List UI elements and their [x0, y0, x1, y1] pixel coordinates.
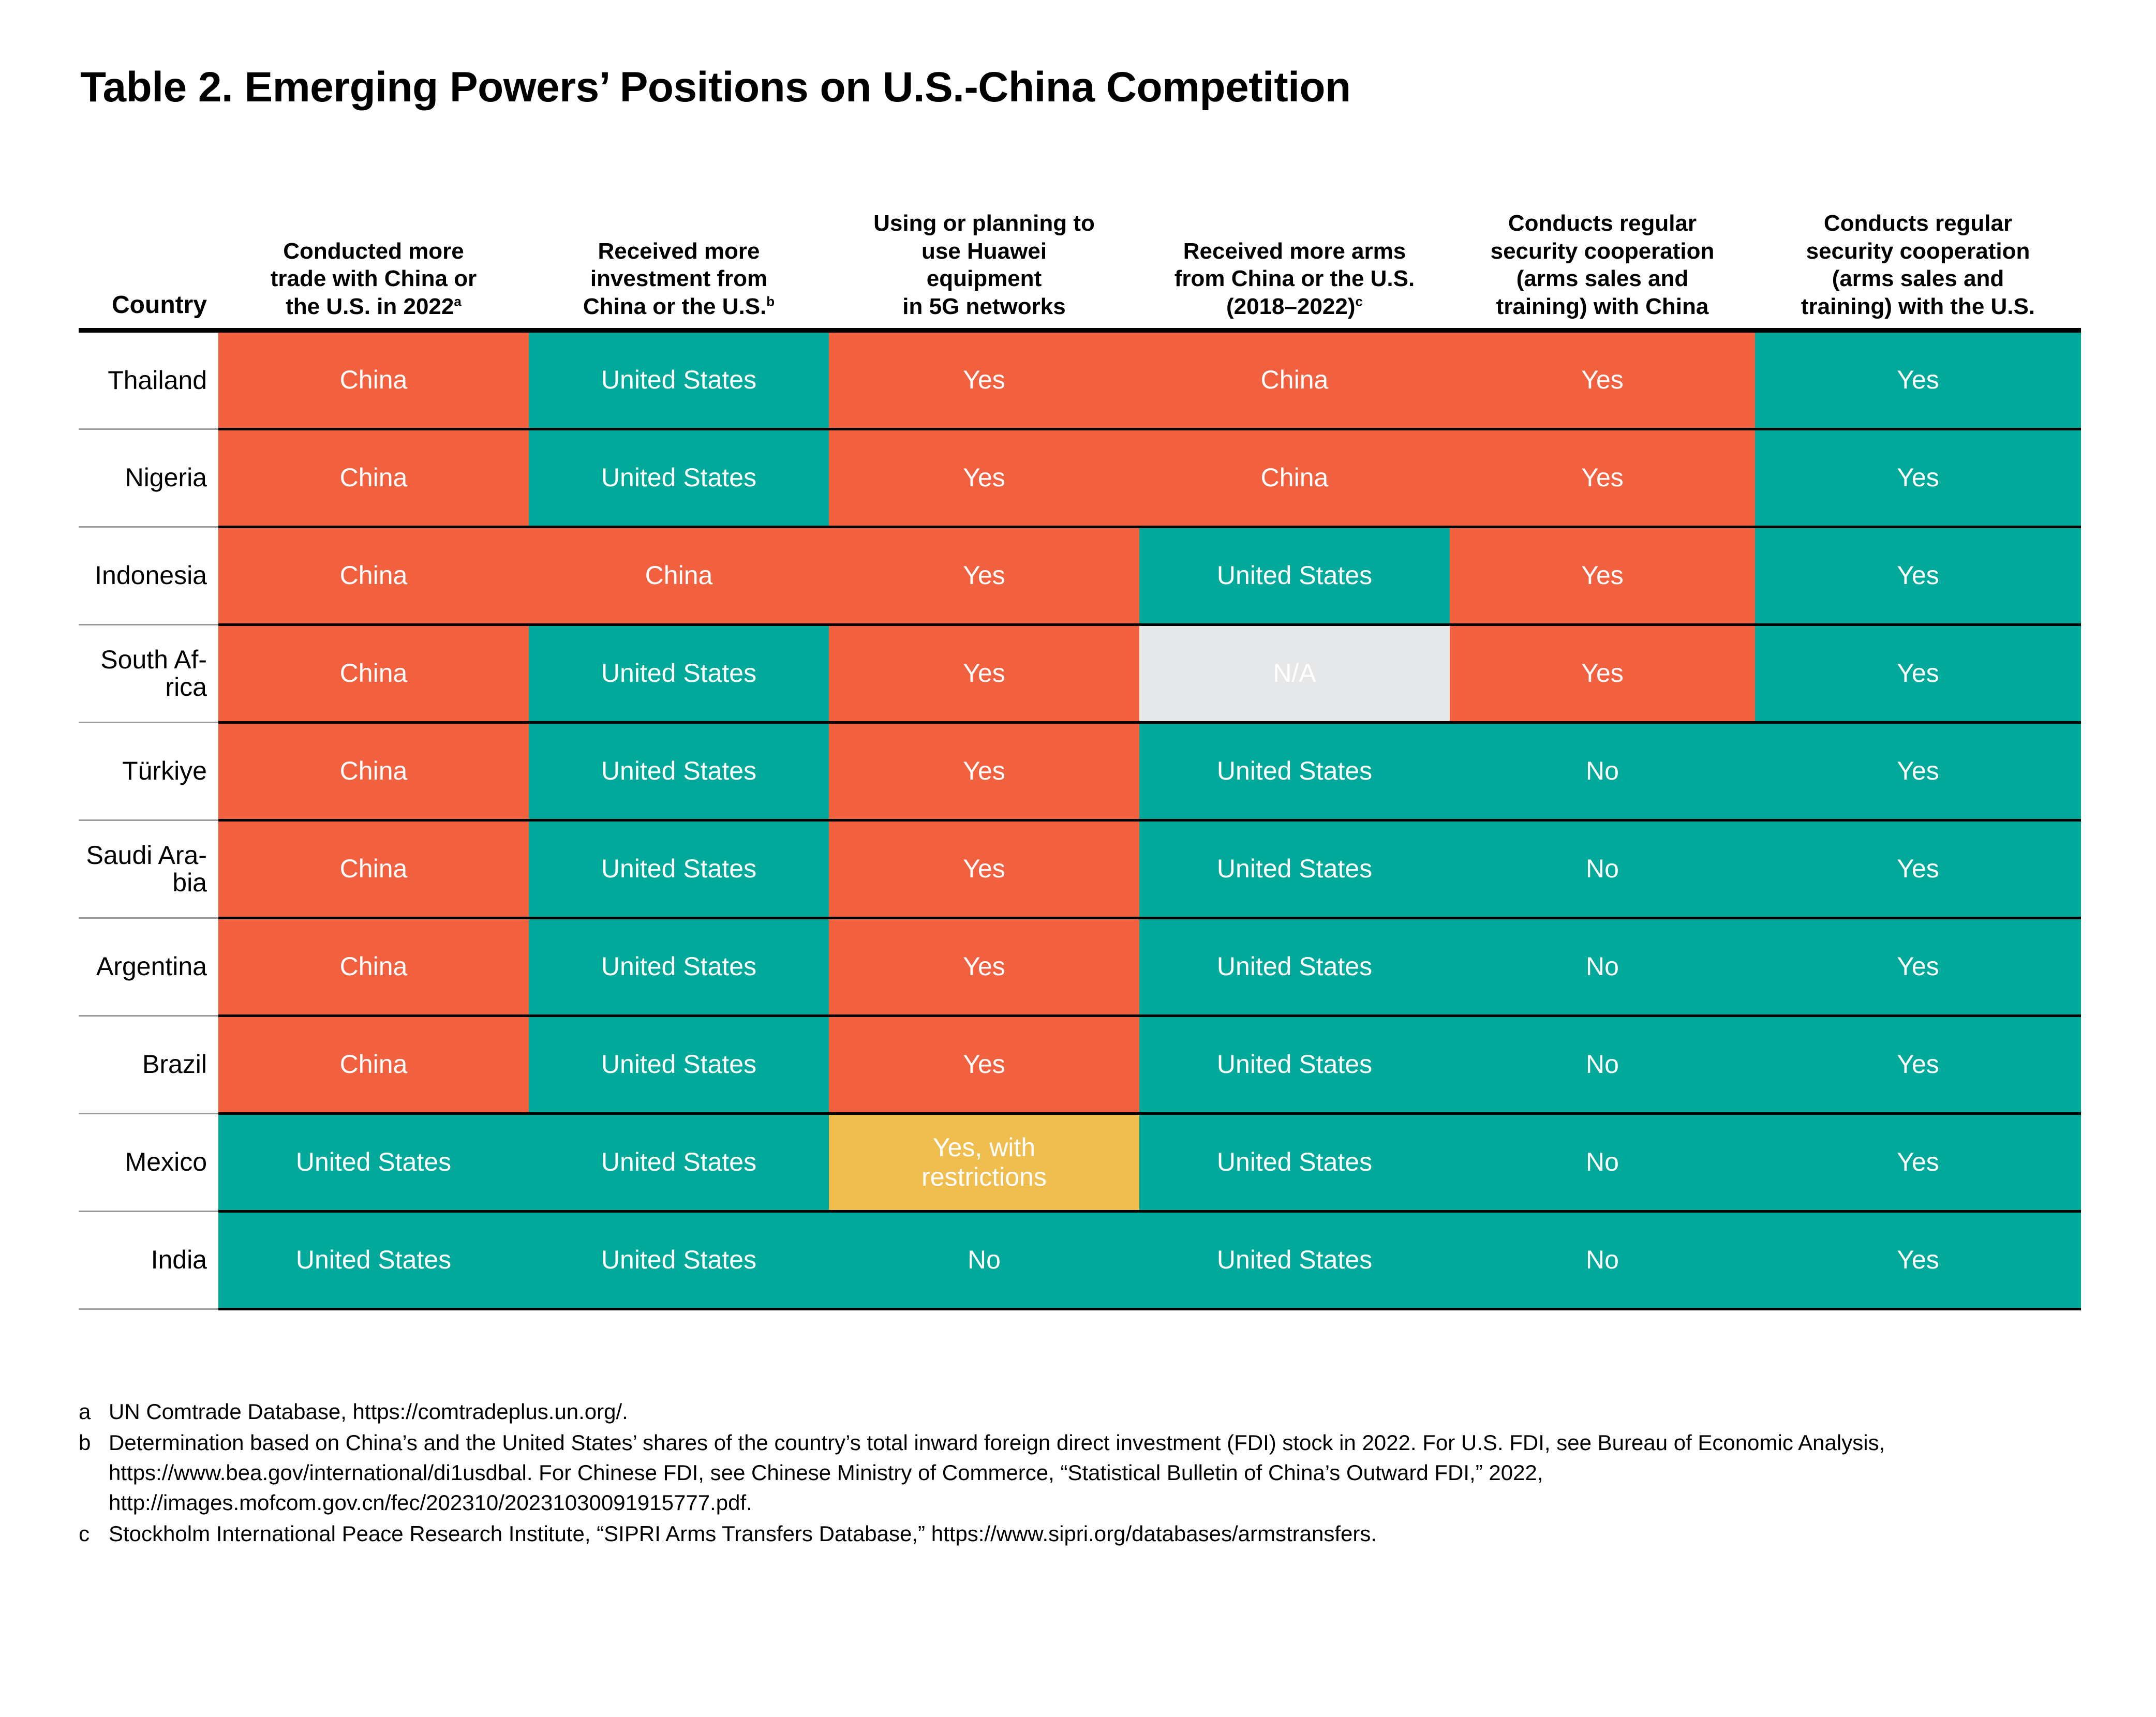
- cell-investment: United States: [529, 1016, 829, 1113]
- cell-arms: N/A: [1139, 624, 1450, 722]
- cell-security-cooperation-us: Yes: [1755, 624, 2081, 722]
- cell-investment: China: [529, 527, 829, 624]
- cell-trade: China: [218, 722, 529, 820]
- header-line: security cooperation: [1806, 238, 2030, 264]
- footnote-ref-b: b: [766, 293, 775, 309]
- cell-security-cooperation-china: Yes: [1450, 527, 1755, 624]
- cell-arms: United States: [1139, 1016, 1450, 1113]
- cell-arms: United States: [1139, 1211, 1450, 1309]
- header-line: equipment: [927, 266, 1042, 291]
- column-header-huawei: Using or planning to use Huawei equipmen…: [829, 210, 1139, 330]
- header-line: Conducts regular: [1824, 211, 2012, 236]
- cell-huawei-5g: Yes: [829, 918, 1139, 1016]
- row-label-country: Mexico: [79, 1113, 218, 1211]
- cell-trade: United States: [218, 1211, 529, 1309]
- cell-huawei-5g: Yes: [829, 1016, 1139, 1113]
- cell-trade: United States: [218, 1113, 529, 1211]
- header-line: (arms sales and: [1832, 266, 2004, 291]
- cell-trade: China: [218, 820, 529, 918]
- column-header-arms: Received more arms from China or the U.S…: [1139, 210, 1450, 330]
- emerging-powers-table: Country Conducted more trade with China …: [79, 210, 2081, 1310]
- cell-security-cooperation-us: Yes: [1755, 1113, 2081, 1211]
- header-line: (2018–2022): [1226, 294, 1356, 319]
- cell-arms: China: [1139, 330, 1450, 429]
- cell-security-cooperation-china: No: [1450, 722, 1755, 820]
- header-line: the U.S. in 2022: [286, 294, 454, 319]
- cell-huawei-5g: Yes, withrestrictions: [829, 1113, 1139, 1211]
- cell-huawei-5g: Yes: [829, 624, 1139, 722]
- header-line: Using or planning to: [873, 211, 1095, 236]
- cell-security-cooperation-us: Yes: [1755, 330, 2081, 429]
- cell-investment: United States: [529, 330, 829, 429]
- footnote-ref-a: a: [454, 293, 461, 309]
- header-row: Country Conducted more trade with China …: [79, 210, 2081, 330]
- header-line: from China or the U.S.: [1174, 266, 1415, 291]
- header-line: (arms sales and: [1516, 266, 1689, 291]
- cell-security-cooperation-us: Yes: [1755, 1211, 2081, 1309]
- footnote-ref-c: c: [1356, 293, 1363, 309]
- cell-investment: United States: [529, 1211, 829, 1309]
- row-label-country: South Af-rica: [79, 624, 218, 722]
- cell-trade: China: [218, 1016, 529, 1113]
- footnote-marker: c: [79, 1519, 109, 1549]
- table-row: ThailandChinaUnited StatesYesChinaYesYes: [79, 330, 2081, 429]
- footnote-text: UN Comtrade Database, https://comtradepl…: [109, 1397, 2024, 1427]
- footnotes: aUN Comtrade Database, https://comtradep…: [79, 1397, 2024, 1550]
- cell-trade: China: [218, 918, 529, 1016]
- header-line: training) with China: [1496, 294, 1709, 319]
- table-row: TürkiyeChinaUnited StatesYesUnited State…: [79, 722, 2081, 820]
- cell-security-cooperation-us: Yes: [1755, 527, 2081, 624]
- cell-investment: United States: [529, 722, 829, 820]
- cell-arms: United States: [1139, 820, 1450, 918]
- column-header-security-cooperation-china: Conducts regular security cooperation (a…: [1450, 210, 1755, 330]
- cell-investment: United States: [529, 429, 829, 527]
- table-row: IndiaUnited StatesUnited StatesNoUnited …: [79, 1211, 2081, 1309]
- row-label-country: Indonesia: [79, 527, 218, 624]
- header-line: investment from: [590, 266, 767, 291]
- row-label-country: Brazil: [79, 1016, 218, 1113]
- table-header: Country Conducted more trade with China …: [79, 210, 2081, 330]
- cell-arms: United States: [1139, 918, 1450, 1016]
- column-header-investment: Received more investment from China or t…: [529, 210, 829, 330]
- header-line: trade with China or: [271, 266, 477, 291]
- table-row: BrazilChinaUnited StatesYesUnited States…: [79, 1016, 2081, 1113]
- cell-security-cooperation-china: Yes: [1450, 429, 1755, 527]
- cell-security-cooperation-china: No: [1450, 1016, 1755, 1113]
- table-page: Table 2. Emerging Powers’ Positions on U…: [0, 0, 2156, 1717]
- cell-investment: United States: [529, 918, 829, 1016]
- table-row: NigeriaChinaUnited StatesYesChinaYesYes: [79, 429, 2081, 527]
- cell-huawei-5g: Yes: [829, 527, 1139, 624]
- footnote-marker: b: [79, 1428, 109, 1458]
- cell-security-cooperation-us: Yes: [1755, 1016, 2081, 1113]
- header-line: security cooperation: [1491, 238, 1715, 264]
- cell-trade: China: [218, 429, 529, 527]
- cell-security-cooperation-us: Yes: [1755, 820, 2081, 918]
- table-row: MexicoUnited StatesUnited StatesYes, wit…: [79, 1113, 2081, 1211]
- column-header-country: Country: [79, 210, 218, 330]
- row-label-country: India: [79, 1211, 218, 1309]
- cell-security-cooperation-china: No: [1450, 918, 1755, 1016]
- table-row: IndonesiaChinaChinaYesUnited StatesYesYe…: [79, 527, 2081, 624]
- cell-arms: United States: [1139, 1113, 1450, 1211]
- cell-security-cooperation-us: Yes: [1755, 918, 2081, 1016]
- row-label-country: Thailand: [79, 330, 218, 429]
- footnote-text: Determination based on China’s and the U…: [109, 1428, 2024, 1518]
- cell-huawei-5g: Yes: [829, 820, 1139, 918]
- cell-huawei-5g: Yes: [829, 330, 1139, 429]
- cell-huawei-5g: Yes: [829, 722, 1139, 820]
- header-line: Received more: [598, 238, 760, 264]
- cell-security-cooperation-china: Yes: [1450, 624, 1755, 722]
- cell-arms: China: [1139, 429, 1450, 527]
- column-header-trade: Conducted more trade with China or the U…: [218, 210, 529, 330]
- table-body: ThailandChinaUnited StatesYesChinaYesYes…: [79, 330, 2081, 1309]
- cell-security-cooperation-us: Yes: [1755, 722, 2081, 820]
- cell-huawei-5g: No: [829, 1211, 1139, 1309]
- cell-security-cooperation-china: No: [1450, 1211, 1755, 1309]
- footnote: bDetermination based on China’s and the …: [79, 1428, 2024, 1518]
- column-header-security-cooperation-us: Conducts regular security cooperation (a…: [1755, 210, 2081, 330]
- cell-investment: United States: [529, 1113, 829, 1211]
- cell-trade: China: [218, 330, 529, 429]
- table-row: South Af-ricaChinaUnited StatesYesN/AYes…: [79, 624, 2081, 722]
- cell-trade: China: [218, 624, 529, 722]
- header-line: Conducted more: [283, 238, 464, 264]
- footnote: cStockholm International Peace Research …: [79, 1519, 2024, 1549]
- cell-investment: United States: [529, 624, 829, 722]
- header-line: use Huawei: [921, 238, 1047, 264]
- footnote-text: Stockholm International Peace Research I…: [109, 1519, 2024, 1549]
- header-line: in 5G networks: [902, 294, 1065, 319]
- cell-security-cooperation-china: No: [1450, 820, 1755, 918]
- table-container: Country Conducted more trade with China …: [79, 210, 2081, 1310]
- row-label-country: Nigeria: [79, 429, 218, 527]
- table-row: ArgentinaChinaUnited StatesYesUnited Sta…: [79, 918, 2081, 1016]
- cell-arms: United States: [1139, 722, 1450, 820]
- row-label-country: Türkiye: [79, 722, 218, 820]
- table-row: Saudi Ara-biaChinaUnited StatesYesUnited…: [79, 820, 2081, 918]
- cell-security-cooperation-china: No: [1450, 1113, 1755, 1211]
- cell-security-cooperation-us: Yes: [1755, 429, 2081, 527]
- row-label-country: Saudi Ara-bia: [79, 820, 218, 918]
- cell-security-cooperation-china: Yes: [1450, 330, 1755, 429]
- cell-investment: United States: [529, 820, 829, 918]
- footnote: aUN Comtrade Database, https://comtradep…: [79, 1397, 2024, 1427]
- header-line: Received more arms: [1183, 238, 1406, 264]
- header-line: training) with the U.S.: [1801, 294, 2035, 319]
- header-line: China or the U.S.: [583, 294, 766, 319]
- footnote-marker: a: [79, 1397, 109, 1427]
- header-line: Conducts regular: [1508, 211, 1697, 236]
- cell-arms: United States: [1139, 527, 1450, 624]
- cell-huawei-5g: Yes: [829, 429, 1139, 527]
- cell-trade: China: [218, 527, 529, 624]
- row-label-country: Argentina: [79, 918, 218, 1016]
- page-title: Table 2. Emerging Powers’ Positions on U…: [80, 63, 1351, 112]
